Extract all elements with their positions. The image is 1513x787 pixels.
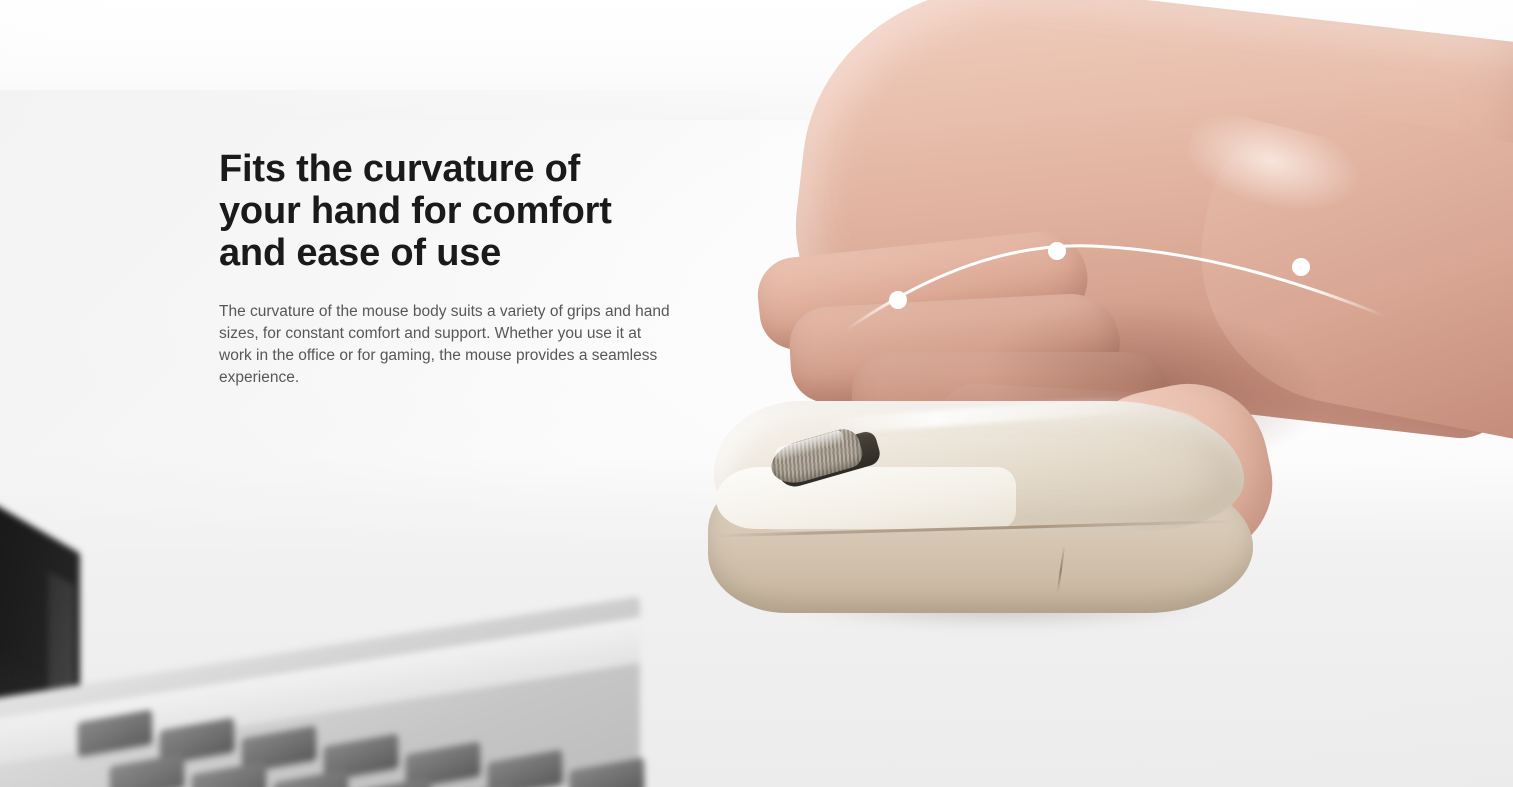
product-photo	[640, 0, 1513, 787]
body-paragraph: The curvature of the mouse body suits a …	[219, 301, 674, 390]
copy-block: Fits the curvature of your hand for comf…	[219, 148, 689, 389]
blurred-laptop	[0, 520, 620, 787]
headline: Fits the curvature of your hand for comf…	[219, 148, 689, 275]
mouse-left-button	[716, 467, 1016, 529]
wireless-mouse	[700, 395, 1280, 645]
banner-stage: Fits the curvature of your hand for comf…	[0, 0, 1513, 787]
